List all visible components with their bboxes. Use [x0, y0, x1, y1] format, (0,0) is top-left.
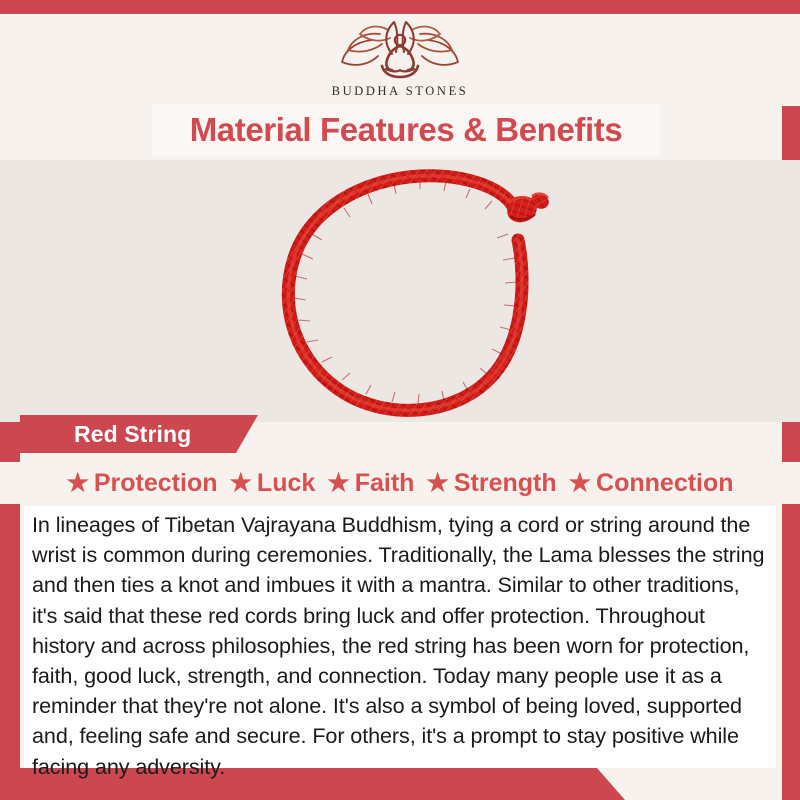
benefit-label: Strength	[454, 469, 557, 498]
description-panel: In lineages of Tibetan Vajrayana Buddhis…	[24, 506, 776, 768]
infographic-poster: BUDDHA STONES Material Features & Benefi…	[0, 0, 800, 800]
description-paragraph: In lineages of Tibetan Vajrayana Buddhis…	[32, 510, 766, 782]
star-icon: ★	[569, 471, 591, 496]
material-name-ribbon: Red String	[20, 415, 258, 453]
benefit-item-connection: ★ Connection	[564, 469, 739, 498]
benefit-label: Connection	[596, 469, 734, 498]
red-string-bracelet-image	[252, 160, 572, 422]
benefit-label: Luck	[257, 469, 315, 498]
top-border-stripe	[0, 0, 800, 14]
star-icon: ★	[426, 471, 448, 496]
benefit-label: Faith	[355, 469, 415, 498]
benefit-item-luck: ★ Luck	[225, 469, 321, 498]
benefit-item-strength: ★ Strength	[421, 469, 561, 498]
brand-header: BUDDHA STONES	[0, 14, 800, 106]
star-icon: ★	[230, 471, 252, 496]
benefit-item-protection: ★ Protection	[61, 469, 222, 498]
star-icon: ★	[66, 471, 88, 496]
material-name-label: Red String	[74, 421, 191, 448]
benefits-list: ★ Protection ★ Luck ★ Faith ★ Strength ★…	[0, 462, 800, 504]
lotus-meditation-logo-icon	[336, 20, 464, 82]
title-band: Material Features & Benefits	[152, 104, 660, 156]
benefit-item-faith: ★ Faith	[322, 469, 419, 498]
benefit-label: Protection	[94, 469, 218, 498]
brand-name: BUDDHA STONES	[332, 84, 469, 99]
page-title: Material Features & Benefits	[190, 111, 623, 149]
star-icon: ★	[327, 471, 349, 496]
product-image-stage	[0, 160, 800, 422]
